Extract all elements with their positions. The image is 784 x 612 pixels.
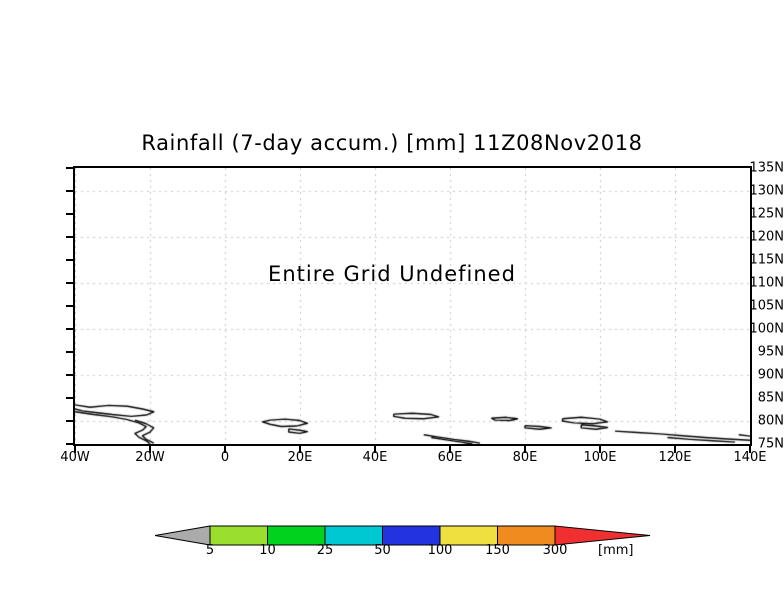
- x-tick-mark: [449, 446, 451, 453]
- y-tick-mark: [66, 167, 73, 169]
- y-tick-mark: [66, 443, 73, 445]
- x-tick-mark: [374, 446, 376, 453]
- colorbar-tick-label: 300: [543, 543, 568, 558]
- rainfall-map-figure: Rainfall (7-day accum.) [mm] 11Z08Nov201…: [0, 0, 784, 612]
- colorbar-tick-label: 25: [317, 543, 334, 558]
- x-tick-mark: [299, 446, 301, 453]
- colorbar: [0, 515, 784, 575]
- x-tick-mark: [674, 446, 676, 453]
- y-tick-mark: [66, 420, 73, 422]
- entire-grid-undefined-label: Entire Grid Undefined: [0, 262, 784, 286]
- y-tick-mark: [66, 190, 73, 192]
- y-tick-mark: [66, 236, 73, 238]
- colorbar-tick-label: 50: [374, 543, 391, 558]
- x-tick-mark: [524, 446, 526, 453]
- colorbar-extend-low: [155, 526, 210, 545]
- colorbar-unit-label: [mm]: [598, 543, 633, 558]
- rainfall-heatmap-canvas: [75, 168, 750, 444]
- colorbar-swatches: [155, 523, 655, 553]
- y-tick-mark: [66, 259, 73, 261]
- colorbar-tick-label: 5: [206, 543, 214, 558]
- x-tick-mark: [224, 446, 226, 453]
- y-tick-mark: [66, 305, 73, 307]
- x-tick-mark: [749, 446, 751, 453]
- y-tick-mark: [66, 351, 73, 353]
- y-tick-mark: [66, 328, 73, 330]
- colorbar-tick-label: 150: [485, 543, 510, 558]
- y-tick-mark: [66, 397, 73, 399]
- plot-area: [73, 166, 752, 446]
- x-tick-mark: [599, 446, 601, 453]
- x-tick-mark: [149, 446, 151, 453]
- page-title: Rainfall (7-day accum.) [mm] 11Z08Nov201…: [0, 131, 784, 155]
- colorbar-tick-label: 10: [259, 543, 276, 558]
- colorbar-tick-label: 100: [428, 543, 453, 558]
- x-tick-mark: [74, 446, 76, 453]
- y-tick-mark: [66, 374, 73, 376]
- y-tick-mark: [66, 213, 73, 215]
